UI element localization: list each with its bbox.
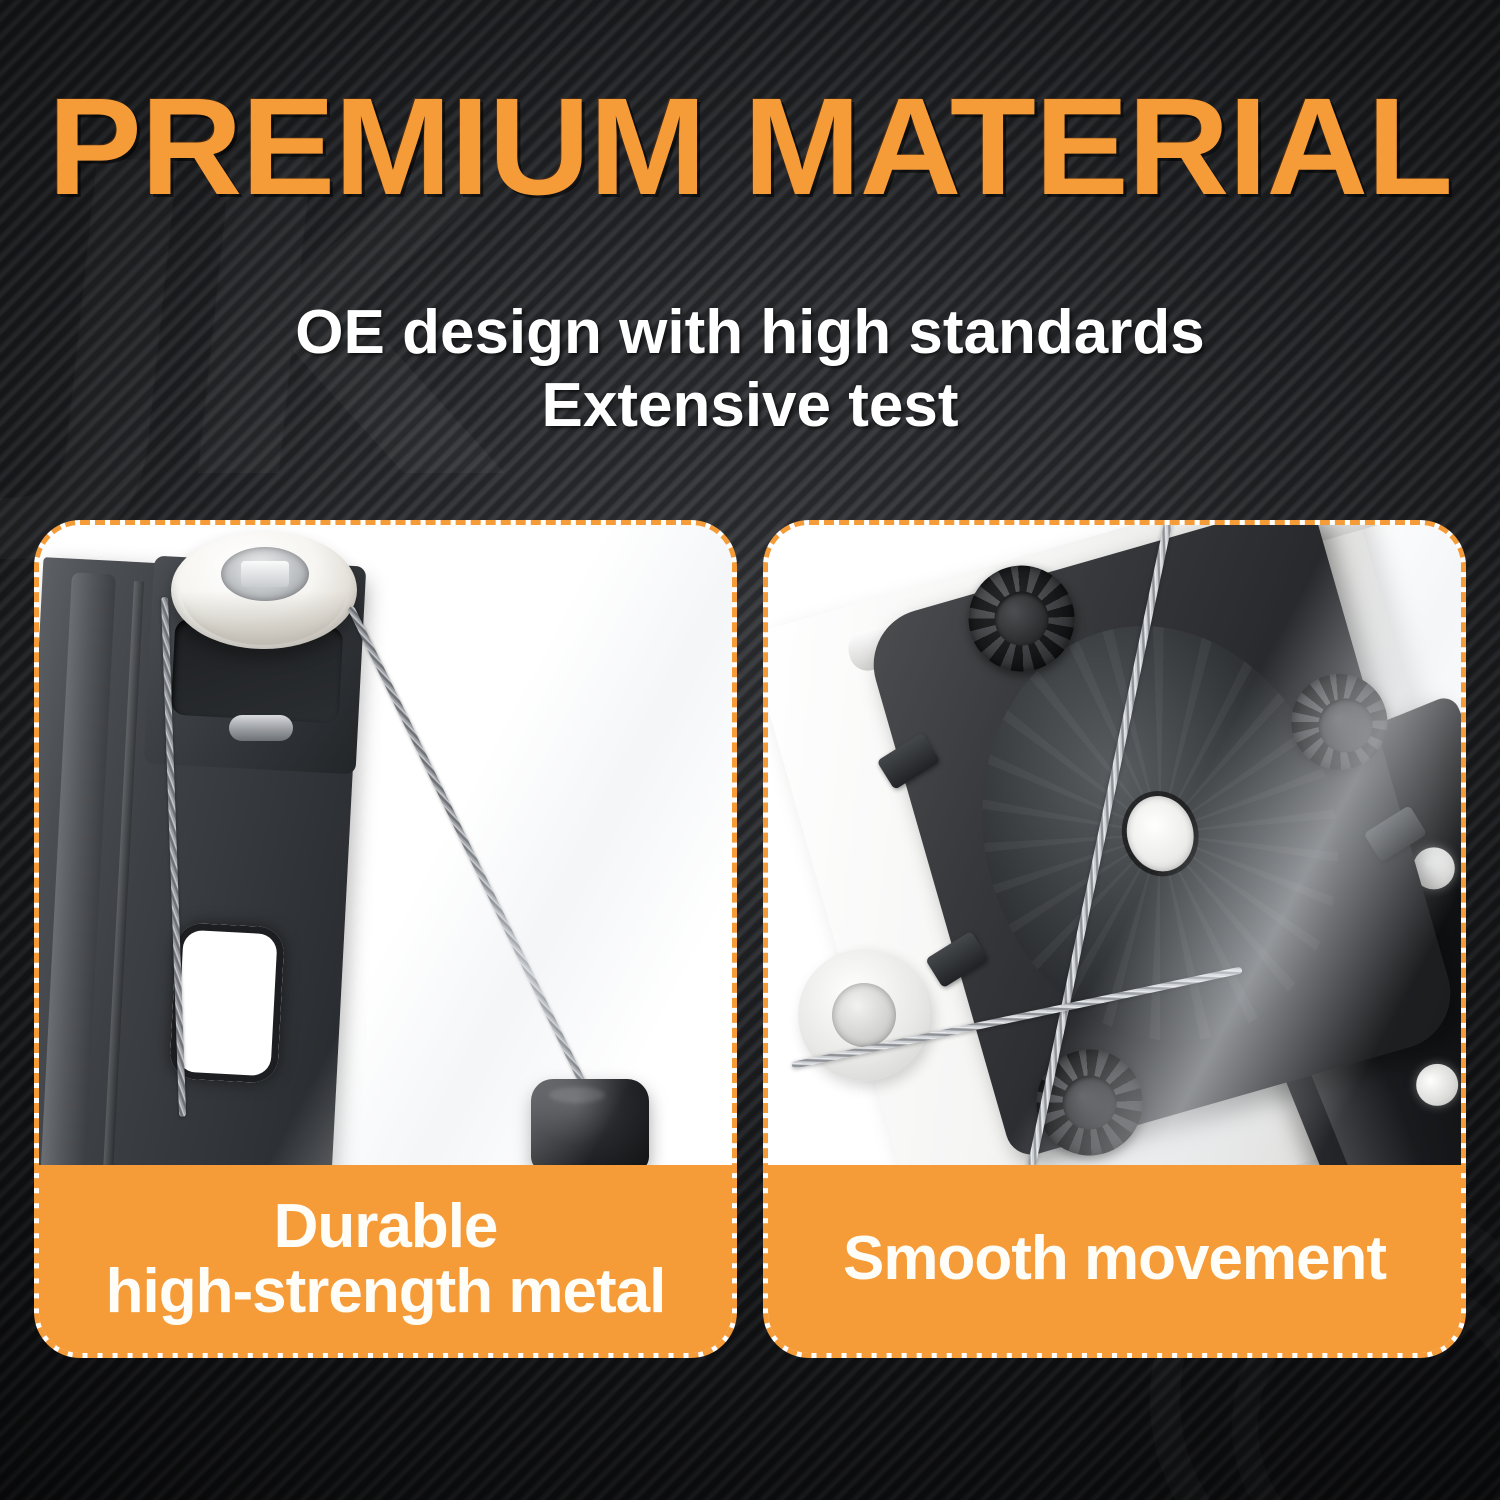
product-photo-metal-rail <box>39 525 732 1165</box>
product-feature-banner: JK PREMIUM MATERIAL OE design with high … <box>0 0 1500 1500</box>
caption-line-1: Durable <box>106 1194 666 1259</box>
page-subtitle: OE design with high standards Extensive … <box>0 296 1500 442</box>
feature-card-durable-metal: Durable high-strength metal <box>34 520 737 1358</box>
product-photo-cable-drum <box>768 525 1461 1165</box>
drum-center-hole <box>1118 788 1202 879</box>
card-caption-durable-metal: Durable high-strength metal <box>39 1165 732 1353</box>
page-title: PREMIUM MATERIAL <box>0 78 1500 216</box>
feature-card-smooth-movement: Smooth movement <box>763 520 1466 1358</box>
subtitle-line-1: OE design with high standards <box>0 296 1500 369</box>
caption-line-1: Smooth movement <box>843 1226 1386 1291</box>
rail-slot-cutout <box>169 922 285 1083</box>
pulley-metal-hub <box>221 547 309 601</box>
rail-rivet <box>229 715 293 741</box>
card-caption-smooth-movement: Smooth movement <box>768 1165 1461 1353</box>
subtitle-line-2: Extensive test <box>0 369 1500 442</box>
rubber-grommet-stop <box>531 1079 649 1165</box>
feature-card-group: Durable high-strength metal <box>34 520 1466 1358</box>
caption-line-2: high-strength metal <box>106 1259 666 1324</box>
rail-mount-hole-2 <box>1410 1058 1461 1113</box>
